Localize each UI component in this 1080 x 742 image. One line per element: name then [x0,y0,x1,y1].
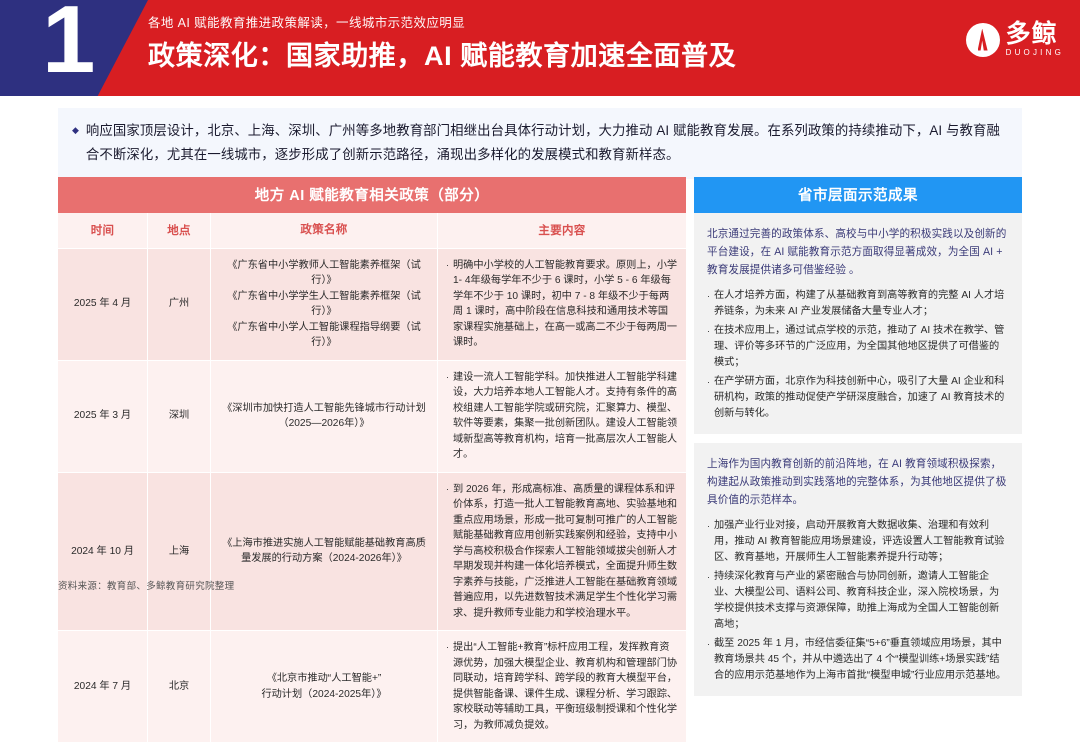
cell-main-content-text: 到 2026 年，形成高标准、高质量的课程体系和评价体系，打造一批人工智能教育高… [453,482,678,622]
case-lead-text: 上海作为国内教育创新的前沿阵地，在 AI 教育领域积极探索，构建起从政策推动到实… [707,455,1009,509]
list-bullet-icon: · [707,374,710,390]
cell-time: 2025 年 3 月 [58,360,148,472]
list-item: ·截至 2025 年 1 月，市经信委征集“5+6”垂直领域应用场景，其中教育场… [707,636,1009,684]
list-bullet-icon: · [446,370,449,386]
col-header-time: 时间 [58,213,148,248]
brand-logo: 多鲸 DUOJING [966,22,1064,57]
col-header-place: 地点 [148,213,211,248]
table-row: 2025 年 3 月 深圳 《深圳市加快打造人工智能先锋城市行动计划（2025—… [58,360,686,472]
list-bullet-icon: · [707,323,710,339]
intro-callout: ◆ 响应国家顶层设计，北京、上海、深圳、广州等多地教育部门相继出台具体行动计划，… [58,108,1022,179]
list-bullet-icon: · [446,482,449,498]
table-header-row: 时间 地点 政策名称 主要内容 [58,213,686,248]
source-note: 资料来源：教育部、多鲸教育研究院整理 [58,578,234,592]
list-item-text: 在人才培养方面，构建了从基础教育到高等教育的完整 AI 人才培养链条，为未来 A… [714,288,1009,320]
diamond-bullet-icon: ◆ [72,119,79,141]
list-item: ·加强产业行业对接，启动开展教育大数据收集、治理和有效利用，推动 AI 教育智能… [707,518,1009,566]
policy-table: 时间 地点 政策名称 主要内容 2025 年 4 月 广州 《广东省中小学教师人… [58,213,686,742]
logo-name-cn: 多鲸 [1006,22,1064,47]
policy-table-panel: 地方 AI 赋能教育相关政策（部分） 时间 地点 政策名称 主要内容 2025 … [58,177,686,742]
list-bullet-icon: · [707,288,710,304]
section-number: 1 [42,0,93,88]
cell-time: 2024 年 10 月 [58,472,148,631]
list-item: ·在人才培养方面，构建了从基础教育到高等教育的完整 AI 人才培养链条，为未来 … [707,288,1009,320]
list-item: ·在产学研方面，北京作为科技创新中心，吸引了大量 AI 企业和科研机构，政策的推… [707,374,1009,422]
header-text-group: 各地 AI 赋能教育推进政策解读，一线城市示范效应明显 政策深化：国家助推，AI… [148,14,736,73]
cell-policy-name: 《深圳市加快打造人工智能先锋城市行动计划（2025—2026年）》 [211,360,438,472]
list-bullet-icon: · [707,569,710,585]
policy-table-title: 地方 AI 赋能教育相关政策（部分） [58,177,686,213]
page-title: 政策深化：国家助推，AI 赋能教育加速全面普及 [148,39,736,73]
table-row: 2025 年 4 月 广州 《广东省中小学教师人工智能素养框架（试行）》《广东省… [58,248,686,360]
case-box-shanghai: 上海作为国内教育创新的前沿阵地，在 AI 教育领域积极探索，构建起从政策推动到实… [694,443,1022,696]
cell-place: 深圳 [148,360,211,472]
cell-main-content: ·建设一流人工智能学科。加快推进人工智能学科建设，大力培养本地人工智能人才。支持… [438,360,687,472]
list-item-text: 持续深化教育与产业的紧密融合与协同创新，邀请人工智能企业、大模型公司、语料公司、… [714,569,1009,633]
demo-results-panel: 省市层面示范成果 北京通过完善的政策体系、高校与中小学的积极实践以及创新的平台建… [694,177,1022,696]
cell-main-content-text: 提出“人工智能+教育”标杆应用工程，发挥教育资源优势，加强大模型企业、教育机构和… [453,640,678,733]
list-item-text: 截至 2025 年 1 月，市经信委征集“5+6”垂直领域应用场景，其中教育场景… [714,636,1009,684]
list-bullet-icon: · [446,640,449,656]
table-row: 2024 年 10 月 上海 《上海市推进实施人工智能赋能基础教育高质量发展的行… [58,472,686,631]
case-box-beijing: 北京通过完善的政策体系、高校与中小学的积极实践以及创新的平台建设，在 AI 赋能… [694,213,1022,434]
list-item: ·在技术应用上，通过试点学校的示范，推动了 AI 技术在教学、管理、评价等多环节… [707,323,1009,371]
cell-main-content: ·提出“人工智能+教育”标杆应用工程，发挥教育资源优势，加强大模型企业、教育机构… [438,631,687,742]
header-subtitle: 各地 AI 赋能教育推进政策解读，一线城市示范效应明显 [148,14,736,32]
cell-place: 上海 [148,472,211,631]
intro-text: 响应国家顶层设计，北京、上海、深圳、广州等多地教育部门相继出台具体行动计划，大力… [86,119,1006,167]
logo-name-en: DUOJING [1006,49,1064,57]
cell-policy-name: 《广东省中小学教师人工智能素养框架（试行）》《广东省中小学学生人工智能素养框架（… [211,248,438,360]
cell-time: 2024 年 7 月 [58,631,148,742]
cell-main-content: ·到 2026 年，形成高标准、高质量的课程体系和评价体系，打造一批人工智能教育… [438,472,687,631]
policy-table-body: 2025 年 4 月 广州 《广东省中小学教师人工智能素养框架（试行）》《广东省… [58,248,686,742]
whale-logo-icon [966,23,1000,57]
page-header: 1 各地 AI 赋能教育推进政策解读，一线城市示范效应明显 政策深化：国家助推，… [0,0,1080,96]
cell-time: 2025 年 4 月 [58,248,148,360]
cell-place: 广州 [148,248,211,360]
list-item-text: 加强产业行业对接，启动开展教育大数据收集、治理和有效利用，推动 AI 教育智能应… [714,518,1009,566]
logo-wordmark: 多鲸 DUOJING [1006,22,1064,57]
list-bullet-icon: · [707,518,710,534]
cell-policy-name: 《上海市推进实施人工智能赋能基础教育高质量发展的行动方案（2024-2026年）… [211,472,438,631]
list-bullet-icon: · [446,258,449,274]
list-item-text: 在产学研方面，北京作为科技创新中心，吸引了大量 AI 企业和科研机构，政策的推动… [714,374,1009,422]
cell-place: 北京 [148,631,211,742]
case-lead-text: 北京通过完善的政策体系、高校与中小学的积极实践以及创新的平台建设，在 AI 赋能… [707,225,1009,279]
list-item: ·持续深化教育与产业的紧密融合与协同创新，邀请人工智能企业、大模型公司、语料公司… [707,569,1009,633]
col-header-main-content: 主要内容 [438,213,687,248]
cell-policy-name: 《北京市推动“人工智能+”行动计划（2024-2025年）》 [211,631,438,742]
table-row: 2024 年 7 月 北京 《北京市推动“人工智能+”行动计划（2024-202… [58,631,686,742]
cell-main-content: ·明确中小学校的人工智能教育要求。原则上，小学1- 4年级每学年不少于 6 课时… [438,248,687,360]
demo-results-title: 省市层面示范成果 [694,177,1022,213]
col-header-policy-name: 政策名称 [211,213,438,248]
cell-main-content-text: 建设一流人工智能学科。加快推进人工智能学科建设，大力培养本地人工智能人才。支持有… [453,370,678,463]
list-bullet-icon: · [707,636,710,652]
list-item-text: 在技术应用上，通过试点学校的示范，推动了 AI 技术在教学、管理、评价等多环节的… [714,323,1009,371]
cell-main-content-text: 明确中小学校的人工智能教育要求。原则上，小学1- 4年级每学年不少于 6 课时，… [453,258,678,351]
